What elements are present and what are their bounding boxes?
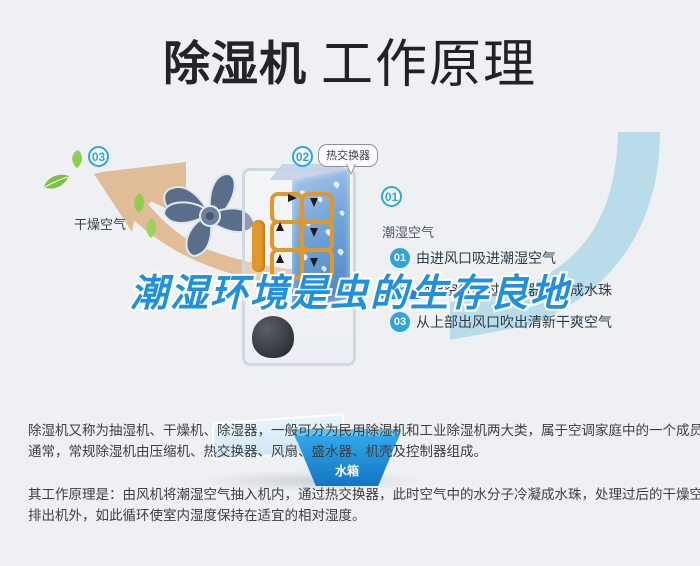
dry-air-label: 干燥空气 — [74, 214, 126, 233]
body-paragraph-2: 其工作原理是：由风机将潮湿空气抽入机内，通过热交换器，此时空气中的水分子冷凝成水… — [28, 484, 676, 526]
flow-arrow-right — [288, 194, 297, 202]
title-bold-part: 除湿机 — [163, 37, 307, 90]
leaf-icon — [42, 173, 70, 191]
diagram-badge-01: 01 — [381, 186, 402, 207]
callout-tail — [346, 164, 356, 175]
flow-arrow-down — [310, 198, 318, 207]
paragraph1-line1: 除湿机又称为抽湿机、干燥机、除湿器，一般可分为民用除湿机和工业除湿机两大类，属于… — [28, 420, 676, 441]
leaf-icon — [131, 193, 147, 213]
diagram-badge-02: 02 — [292, 146, 313, 167]
flow-arrow-down — [310, 228, 318, 237]
humid-air-label: 潮湿空气 — [382, 222, 434, 241]
title-light-part: 工作原理 — [321, 36, 537, 94]
page-title: 除湿机工作原理 — [0, 22, 700, 97]
overlay-headline: 潮湿环境是虫的生存良地 — [0, 262, 700, 317]
diagram-badge-03: 03 — [88, 146, 109, 167]
paragraph2-line1: 其工作原理是：由风机将潮湿空气抽入机内，通过热交换器，此时空气中的水分子冷凝成水… — [28, 484, 676, 505]
water-tank-label: 水箱 — [295, 462, 399, 479]
flow-arrow-up — [276, 222, 284, 231]
paragraph2-line2: 排出机外，如此循环使室内湿度保持在适宜的相对湿度。 — [28, 505, 676, 526]
page-root: 除湿机工作原理 03 干燥空气 — [0, 0, 700, 566]
leaf-icon — [70, 150, 84, 168]
compressor-icon — [252, 316, 294, 358]
paragraph1-line2: 通常，常规除湿机由压缩机、热交换器、风扇、盛水器、机壳及控制器组成。 — [28, 441, 676, 462]
body-paragraph-1: 除湿机又称为抽湿机、干燥机、除湿器，一般可分为民用除湿机和工业除湿机两大类，属于… — [28, 420, 676, 462]
